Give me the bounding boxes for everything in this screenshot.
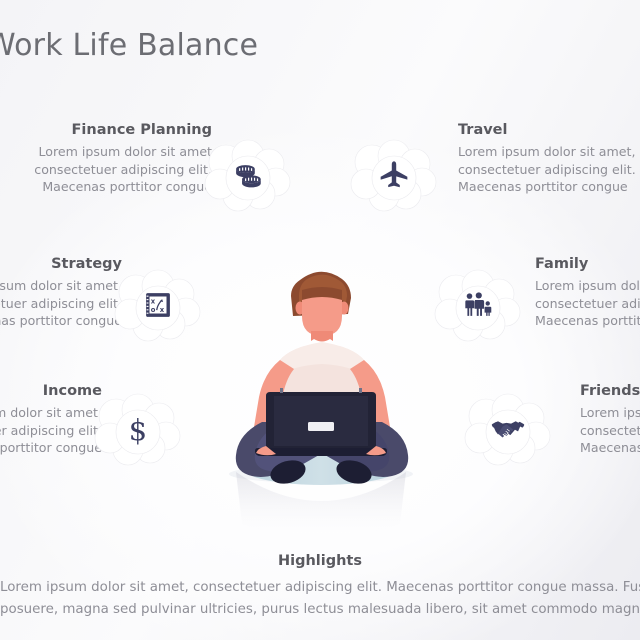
highlights-body-line-1: Lorem ipsum dolor sit amet, consectetuer…	[0, 577, 640, 599]
person-illustration	[196, 246, 446, 546]
topic-block-travel[interactable]: Travel Lorem ipsum dolor sit amet, conse…	[458, 122, 640, 196]
coins-icon	[200, 138, 296, 212]
topic-body-strategy: Lorem ipsum dolor sit amet, consectetuer…	[0, 277, 122, 330]
svg-text:x: x	[151, 297, 156, 305]
icon-bubble-friendship[interactable]	[460, 392, 556, 466]
topic-block-friendship[interactable]: Friendship Lorem ipsum dolor sit amet, c…	[580, 383, 640, 457]
topic-block-finance[interactable]: Finance Planning Lorem ipsum dolor sit a…	[0, 122, 212, 196]
topic-title-strategy: Strategy	[0, 256, 122, 272]
topic-title-friendship: Friendship	[580, 383, 640, 399]
icon-bubble-income[interactable]: $	[90, 392, 186, 466]
icon-bubble-travel[interactable]	[346, 138, 442, 212]
topic-block-income[interactable]: Income Lorem ipsum dolor sit amet, conse…	[0, 383, 102, 457]
icon-bubble-strategy[interactable]: x o x	[110, 268, 206, 342]
highlights-section: Highlights Lorem ipsum dolor sit amet, c…	[0, 553, 640, 621]
topic-body-travel: Lorem ipsum dolor sit amet, consectetuer…	[458, 143, 640, 196]
dollar-icon: $	[90, 392, 186, 466]
page-title: Work Life Balance	[0, 28, 406, 63]
svg-text:o: o	[151, 306, 156, 314]
topic-title-finance: Finance Planning	[0, 122, 212, 138]
svg-text:x: x	[160, 306, 165, 314]
topic-body-friendship: Lorem ipsum dolor sit amet, consectetuer…	[580, 404, 640, 457]
topic-title-family: Family	[535, 256, 640, 272]
airplane-icon	[346, 138, 442, 212]
topic-block-family[interactable]: Family Lorem ipsum dolor sit amet, conse…	[535, 256, 640, 330]
topic-body-family: Lorem ipsum dolor sit amet, consectetuer…	[535, 277, 640, 330]
svg-text:$: $	[129, 413, 147, 447]
highlights-body-line-2: posuere, magna sed pulvinar ultricies, p…	[0, 599, 640, 621]
topic-block-strategy[interactable]: Strategy Lorem ipsum dolor sit amet, con…	[0, 256, 122, 330]
slide-canvas: Work Life Balance Finance Planning Lorem…	[0, 0, 640, 640]
topic-title-travel: Travel	[458, 122, 640, 138]
strategy-board-icon: x o x	[110, 268, 206, 342]
icon-bubble-finance[interactable]	[200, 138, 296, 212]
topic-title-income: Income	[0, 383, 102, 399]
topic-body-finance: Lorem ipsum dolor sit amet consectetuer …	[0, 143, 212, 196]
handshake-icon	[460, 392, 556, 466]
highlights-title: Highlights	[0, 553, 640, 569]
topic-body-income: Lorem ipsum dolor sit amet, consectetuer…	[0, 404, 102, 457]
